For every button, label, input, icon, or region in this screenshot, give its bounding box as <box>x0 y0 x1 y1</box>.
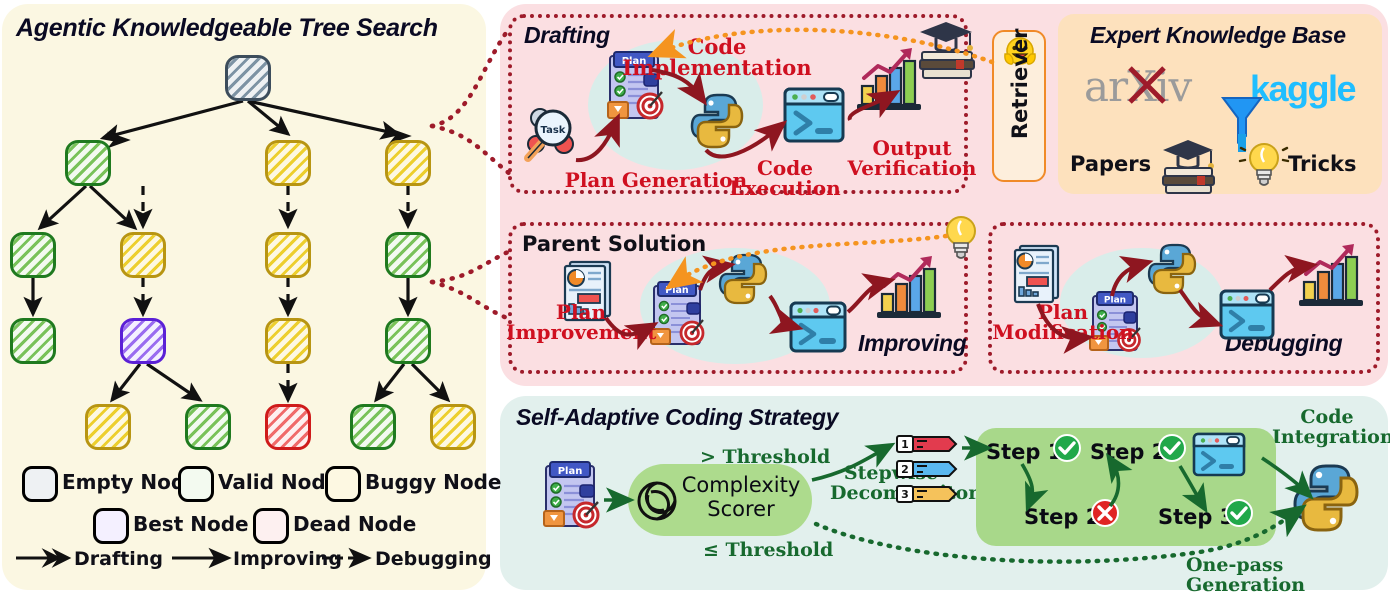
tree-node-valid[interactable] <box>185 404 231 450</box>
label-one-pass-generation: One-pass Generation <box>1186 556 1390 596</box>
terminal-window-icon <box>782 86 848 146</box>
tree-node-best[interactable] <box>120 318 166 364</box>
plan-tag: Plan <box>665 285 689 296</box>
task-tag: Task <box>541 125 566 136</box>
improving-title: Improving <box>858 330 966 357</box>
page-title: Agentic Knowledgeable Tree Search <box>16 14 438 43</box>
tree-node-valid[interactable] <box>65 140 111 186</box>
label-above-threshold: > Threshold <box>700 448 830 468</box>
terminal-window-icon <box>1218 288 1278 344</box>
legend-swatch-best <box>93 508 129 544</box>
legend-label-dead: Dead Node <box>293 512 416 536</box>
legend-label-improving: Improving <box>233 548 342 570</box>
label-output-verification: Output Verification <box>842 138 982 179</box>
terminal-window-icon <box>788 300 850 356</box>
arxiv-logo: arXiv <box>1084 62 1191 111</box>
tree-node-valid[interactable] <box>10 318 56 364</box>
step-label-2b: Step 2 <box>1024 505 1100 529</box>
bar-chart-growth-icon <box>1298 244 1364 306</box>
label-code-implementation: Code Implementation <box>622 36 812 79</box>
python-logo-icon <box>1147 242 1199 296</box>
legend-swatch-valid <box>178 466 214 502</box>
step-label-2a: Step 2 <box>1090 440 1166 464</box>
lightbulb-icon <box>938 210 984 266</box>
decomposition-num-2: 2 <box>901 463 909 476</box>
terminal-window-icon <box>1192 432 1248 478</box>
label-plan-improvement: Plan Improvement <box>506 302 656 343</box>
tree-node-buggy[interactable] <box>265 232 311 278</box>
tree-node-valid[interactable] <box>385 232 431 278</box>
python-logo-icon <box>1292 462 1362 534</box>
label-plan-modification: Plan Modification <box>988 302 1138 343</box>
legend-label-best: Best Node <box>133 512 249 536</box>
legend-label-debugging: Debugging <box>375 548 492 570</box>
decomposition-num-3: 3 <box>901 488 909 501</box>
graduation-books-icon <box>1160 136 1218 194</box>
legend-label-buggy: Buggy Node <box>365 470 501 494</box>
tree-node-buggy[interactable] <box>385 140 431 186</box>
graduation-books-icon <box>916 16 978 80</box>
decomposition-list-icon: 1 2 3 <box>896 434 962 510</box>
kaggle-logo: kaggle <box>1250 68 1355 110</box>
expert-knowledge-base-title: Expert Knowledge Base <box>1090 22 1346 49</box>
tree-node-root-empty[interactable] <box>225 55 271 101</box>
legend-swatch-buggy <box>325 466 361 502</box>
tree-node-buggy[interactable] <box>85 404 131 450</box>
legend-label-drafting: Drafting <box>74 548 163 570</box>
self-adaptive-title: Self-Adaptive Coding Strategy <box>516 404 838 431</box>
step-label-3: Step 3 <box>1158 505 1234 529</box>
complexity-scorer-label: Complexity Scorer <box>668 474 814 521</box>
legend-label-valid: Valid Node <box>218 470 339 494</box>
tree-node-valid[interactable] <box>10 232 56 278</box>
tree-node-valid[interactable] <box>350 404 396 450</box>
decomposition-num-1: 1 <box>901 438 909 451</box>
tricks-label: Tricks <box>1288 152 1357 176</box>
tree-node-dead[interactable] <box>265 404 311 450</box>
plan-tag: Plan <box>558 466 583 477</box>
tree-node-buggy[interactable] <box>265 318 311 364</box>
tree-node-valid[interactable] <box>385 318 431 364</box>
legend-swatch-dead <box>253 508 289 544</box>
tree-node-buggy[interactable] <box>430 404 476 450</box>
legend-swatch-empty <box>22 466 58 502</box>
parent-solution-label: Parent Solution <box>522 232 706 256</box>
label-below-threshold: ≤ Threshold <box>703 541 833 561</box>
tree-node-buggy[interactable] <box>120 232 166 278</box>
tree-node-buggy[interactable] <box>265 140 311 186</box>
retriever-label: Retriever <box>1008 53 1032 139</box>
step-label-1: Step 1 <box>986 440 1062 464</box>
python-logo-icon <box>718 252 770 306</box>
figure-root: Agentic Knowledgeable Tree Search <box>0 0 1390 594</box>
papers-label: Papers <box>1070 152 1151 176</box>
lightbulb-icon <box>1240 136 1288 192</box>
report-document-icon <box>1012 242 1064 304</box>
bar-chart-growth-icon <box>876 256 944 318</box>
plan-document-icon: Plan <box>536 458 606 536</box>
python-logo-icon <box>690 92 746 150</box>
task-magnifier-icon: Task <box>520 100 582 166</box>
drafting-title: Drafting <box>524 22 610 49</box>
label-code-integration: Code Integration <box>1272 408 1382 448</box>
